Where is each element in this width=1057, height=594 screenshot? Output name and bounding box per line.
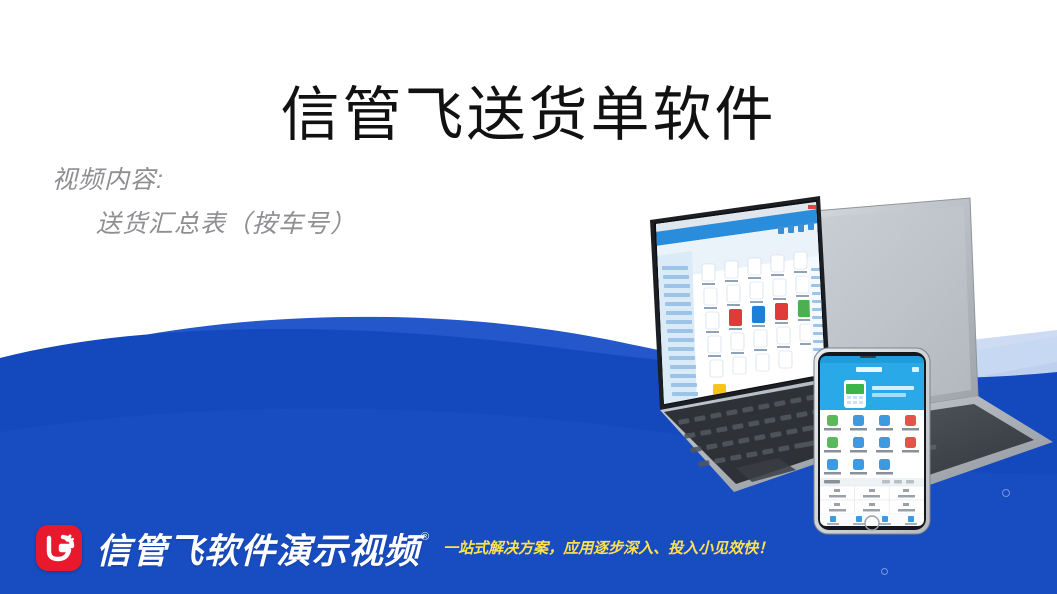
video-content-value: 送货汇总表（按车号） xyxy=(52,202,356,246)
laptop-screen-content xyxy=(654,200,828,405)
brand-bar: 信管飞软件演示视频® 一站式解决方案，应用逐步深入、投入小见效快！ xyxy=(0,502,1057,594)
device-illustration xyxy=(478,196,1057,536)
logo-mark-icon xyxy=(36,525,82,571)
brand-name: 信管飞软件演示视频® xyxy=(96,523,429,574)
product-photo xyxy=(478,196,1057,536)
video-content-block: 视频内容: 送货汇总表（按车号） xyxy=(52,158,356,246)
xinguanfei-bird-logo-icon xyxy=(36,525,82,571)
brand-name-text: 信管飞软件演示视频 xyxy=(96,532,420,571)
brand-tagline: 一站式解决方案，应用逐步深入、投入小见效快！ xyxy=(443,537,773,560)
registered-mark: ® xyxy=(421,531,430,543)
video-content-label: 视频内容: xyxy=(52,166,164,194)
presentation-slide: 信管飞送货单软件 视频内容: 送货汇总表（按车号） 信管飞软件演示视频® 一站式… xyxy=(0,0,1057,594)
page-title: 信管飞送货单软件 xyxy=(0,82,1057,150)
